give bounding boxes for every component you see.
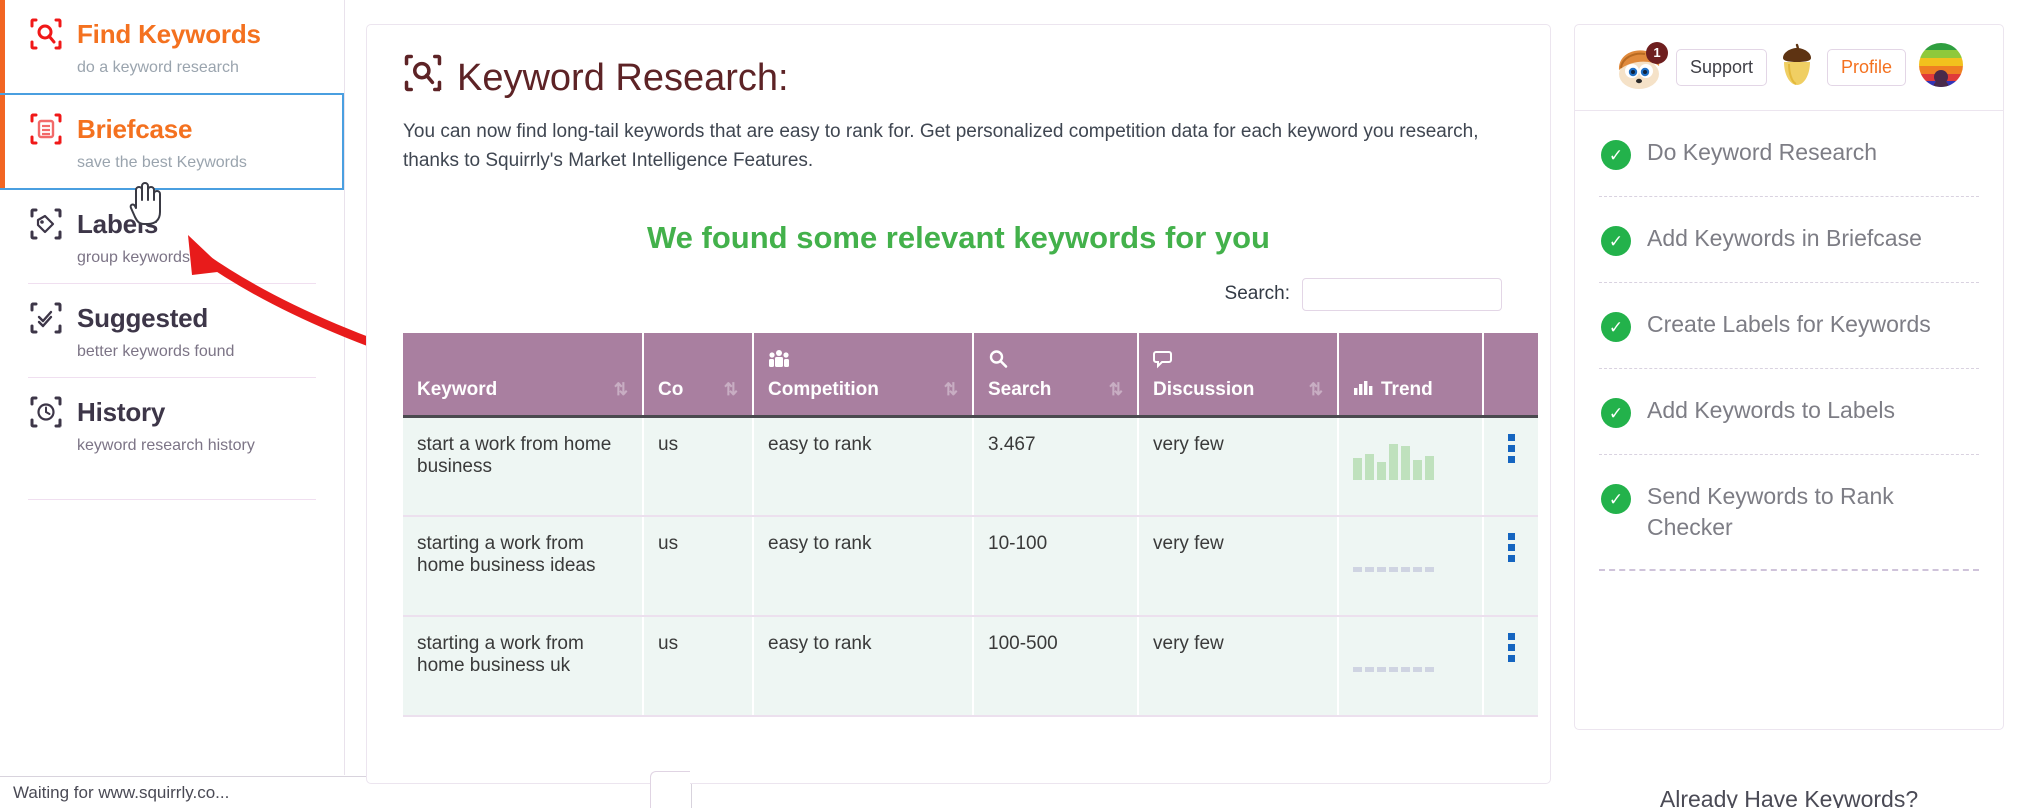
checklist-item[interactable]: ✓ Do Keyword Research bbox=[1599, 111, 1979, 197]
double-check-icon bbox=[28, 300, 64, 336]
sort-icon[interactable]: ⇅ bbox=[724, 380, 738, 400]
column-header-co[interactable]: Co ⇅ bbox=[643, 333, 753, 417]
checklist-item[interactable]: ✓ Add Keywords in Briefcase bbox=[1599, 197, 1979, 283]
sort-icon[interactable]: ⇅ bbox=[614, 380, 628, 400]
bars-icon bbox=[1353, 379, 1373, 401]
column-label: Discussion bbox=[1153, 379, 1254, 401]
sort-icon[interactable]: ⇅ bbox=[1309, 380, 1323, 400]
magnifier-icon bbox=[988, 349, 1123, 373]
sort-icon[interactable]: ⇅ bbox=[1109, 380, 1123, 400]
sidebar-item-briefcase[interactable]: Briefcase save the best Keywords bbox=[0, 93, 344, 190]
rainbow-avatar-icon[interactable] bbox=[1916, 41, 1966, 94]
no-icon bbox=[417, 349, 628, 373]
cell-actions[interactable] bbox=[1483, 616, 1538, 716]
support-button[interactable]: Support bbox=[1676, 49, 1767, 86]
cell-trend bbox=[1338, 516, 1483, 616]
trend-sparkline bbox=[1353, 633, 1468, 679]
results-heading: We found some relevant keywords for you bbox=[403, 220, 1514, 256]
accent-bar bbox=[0, 0, 5, 93]
trend-sparkline bbox=[1353, 434, 1468, 480]
magnifier-icon bbox=[28, 16, 64, 52]
cell-search: 100-500 bbox=[973, 616, 1138, 716]
cell-trend bbox=[1338, 616, 1483, 716]
search-label: Search: bbox=[1225, 283, 1290, 305]
checklist-label: Send Keywords to Rank Checker bbox=[1647, 481, 1977, 543]
tooltip-popup bbox=[650, 771, 690, 808]
keywords-table: Keyword ⇅ Co ⇅ bbox=[403, 333, 1538, 718]
briefcase-icon bbox=[28, 111, 64, 147]
sidebar-item-label: Briefcase bbox=[77, 115, 192, 144]
no-icon bbox=[1353, 349, 1468, 373]
column-label: Trend bbox=[1381, 379, 1433, 401]
status-text: Waiting for www.squirrly.co... bbox=[13, 783, 229, 803]
sidebar-item-subtitle: save the best Keywords bbox=[77, 154, 342, 172]
checklist-label: Add Keywords to Labels bbox=[1647, 395, 1895, 426]
cell-co: us bbox=[643, 516, 753, 616]
check-circle-icon: ✓ bbox=[1601, 484, 1631, 514]
no-icon bbox=[658, 349, 738, 373]
sidebar-item-labels[interactable]: Labels group keywords bbox=[0, 190, 344, 283]
left-sidebar: Find Keywords do a keyword research Brie… bbox=[0, 0, 345, 775]
sidebar-item-suggested[interactable]: Suggested better keywords found bbox=[0, 284, 344, 377]
sidebar-item-label: Suggested bbox=[77, 304, 208, 333]
column-header-competition[interactable]: Competition ⇅ bbox=[753, 333, 973, 417]
checklist-label: Add Keywords in Briefcase bbox=[1647, 223, 1922, 254]
people-icon bbox=[768, 349, 958, 373]
kebab-menu-icon[interactable] bbox=[1498, 633, 1524, 662]
table-row[interactable]: start a work from home business us easy … bbox=[403, 416, 1538, 516]
cell-competition: easy to rank bbox=[753, 416, 973, 516]
column-label: Co bbox=[658, 379, 683, 401]
cell-search: 10-100 bbox=[973, 516, 1138, 616]
right-panel-footer-text: Already Have Keywords? bbox=[1660, 786, 1918, 808]
cell-discussion: very few bbox=[1138, 616, 1338, 716]
cell-actions[interactable] bbox=[1483, 516, 1538, 616]
checklist-item[interactable]: ✓ Send Keywords to Rank Checker bbox=[1599, 455, 1979, 571]
squirrel-mascot-icon[interactable]: 1 bbox=[1612, 44, 1666, 92]
cell-competition: easy to rank bbox=[753, 516, 973, 616]
notification-badge: 1 bbox=[1646, 42, 1668, 64]
sidebar-item-subtitle: group keywords bbox=[77, 249, 344, 267]
column-label: Competition bbox=[768, 379, 879, 401]
cell-trend bbox=[1338, 416, 1483, 516]
cell-keyword: start a work from home business bbox=[403, 416, 643, 516]
sidebar-divider bbox=[28, 499, 316, 500]
column-header-actions bbox=[1483, 333, 1538, 417]
check-circle-icon: ✓ bbox=[1601, 140, 1631, 170]
clock-icon bbox=[28, 394, 64, 430]
acorn-icon[interactable] bbox=[1777, 42, 1817, 93]
sidebar-item-history[interactable]: History keyword research history bbox=[0, 378, 344, 471]
app-root: Find Keywords do a keyword research Brie… bbox=[0, 0, 2028, 808]
check-circle-icon: ✓ bbox=[1601, 226, 1631, 256]
cell-co: us bbox=[643, 416, 753, 516]
column-header-trend: Trend bbox=[1338, 333, 1483, 417]
page-title-text: Keyword Research: bbox=[457, 57, 789, 100]
cell-discussion: very few bbox=[1138, 416, 1338, 516]
right-panel-footer[interactable]: Already Have Keywords? bbox=[1574, 752, 2004, 808]
cell-keyword: starting a work from home business ideas bbox=[403, 516, 643, 616]
page-title: Keyword Research: bbox=[403, 53, 1514, 103]
right-panel: 1 Support Profile bbox=[1574, 24, 2004, 730]
intro-paragraph: You can now find long-tail keywords that… bbox=[403, 117, 1514, 176]
cell-discussion: very few bbox=[1138, 516, 1338, 616]
trend-sparkline bbox=[1353, 533, 1468, 579]
checklist-label: Do Keyword Research bbox=[1647, 137, 1877, 168]
cell-keyword: starting a work from home business uk bbox=[403, 616, 643, 716]
column-label: Keyword bbox=[417, 379, 497, 401]
tag-icon bbox=[28, 206, 64, 242]
right-panel-header: 1 Support Profile bbox=[1575, 25, 2003, 111]
magnifier-icon bbox=[403, 53, 443, 103]
column-header-keyword[interactable]: Keyword ⇅ bbox=[403, 333, 643, 417]
comment-icon bbox=[1153, 349, 1323, 373]
checklist-item[interactable]: ✓ Add Keywords to Labels bbox=[1599, 369, 1979, 455]
column-label: Search bbox=[988, 379, 1051, 401]
checklist-label: Create Labels for Keywords bbox=[1647, 309, 1931, 340]
check-circle-icon: ✓ bbox=[1601, 312, 1631, 342]
sidebar-item-label: Find Keywords bbox=[77, 20, 261, 49]
kebab-menu-icon[interactable] bbox=[1498, 434, 1524, 463]
table-row[interactable]: starting a work from home business uk us… bbox=[403, 616, 1538, 716]
kebab-menu-icon[interactable] bbox=[1498, 533, 1524, 562]
accent-bar bbox=[0, 95, 5, 188]
check-circle-icon: ✓ bbox=[1601, 398, 1631, 428]
profile-button[interactable]: Profile bbox=[1827, 49, 1906, 86]
sidebar-item-find-keywords[interactable]: Find Keywords do a keyword research bbox=[0, 0, 344, 93]
cell-competition: easy to rank bbox=[753, 616, 973, 716]
sidebar-item-subtitle: better keywords found bbox=[77, 343, 344, 361]
search-input[interactable] bbox=[1302, 278, 1502, 311]
cell-actions[interactable] bbox=[1483, 416, 1538, 516]
checklist-item[interactable]: ✓ Create Labels for Keywords bbox=[1599, 283, 1979, 369]
sidebar-item-subtitle: do a keyword research bbox=[77, 59, 344, 77]
sidebar-item-label: History bbox=[77, 398, 165, 427]
sidebar-item-subtitle: keyword research history bbox=[77, 437, 344, 455]
table-header-row: Keyword ⇅ Co ⇅ bbox=[403, 333, 1538, 417]
cell-co: us bbox=[643, 616, 753, 716]
sort-icon[interactable]: ⇅ bbox=[944, 380, 958, 400]
table-search-bar: Search: bbox=[403, 278, 1514, 311]
cell-search: 3.467 bbox=[973, 416, 1138, 516]
table-row[interactable]: starting a work from home business ideas… bbox=[403, 516, 1538, 616]
onboarding-checklist: ✓ Do Keyword Research ✓ Add Keywords in … bbox=[1575, 111, 2003, 571]
column-header-discussion[interactable]: Discussion ⇅ bbox=[1138, 333, 1338, 417]
column-header-search[interactable]: Search ⇅ bbox=[973, 333, 1138, 417]
main-panel: Keyword Research: You can now find long-… bbox=[366, 24, 1551, 784]
no-icon bbox=[1498, 371, 1524, 395]
hand-cursor-icon bbox=[124, 178, 164, 226]
